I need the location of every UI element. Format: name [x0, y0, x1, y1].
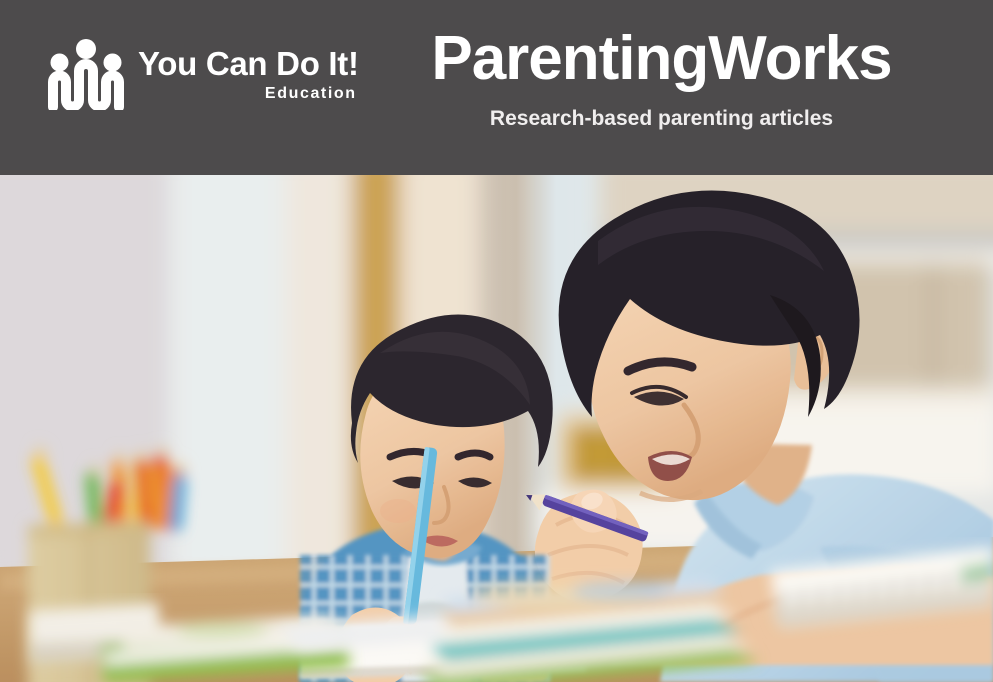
brand-wordmark: You Can Do It! Education — [138, 47, 359, 102]
three-people-group-icon — [48, 38, 124, 110]
header-banner: You Can Do It! Education ParentingWorks … — [0, 0, 993, 175]
page-tagline: Research-based parenting articles — [330, 108, 993, 129]
masthead: ParentingWorks Research-based parenting … — [330, 28, 993, 129]
hero-photo-illustration — [0, 175, 993, 682]
brand-logo[interactable]: You Can Do It! Education — [48, 38, 359, 110]
brand-name: You Can Do It! — [138, 47, 359, 80]
page-title: ParentingWorks — [330, 28, 993, 90]
hero-photo: A father and young son sitting at a wood… — [0, 175, 993, 682]
parentingworks-newsletter-page: You Can Do It! Education ParentingWorks … — [0, 0, 993, 682]
